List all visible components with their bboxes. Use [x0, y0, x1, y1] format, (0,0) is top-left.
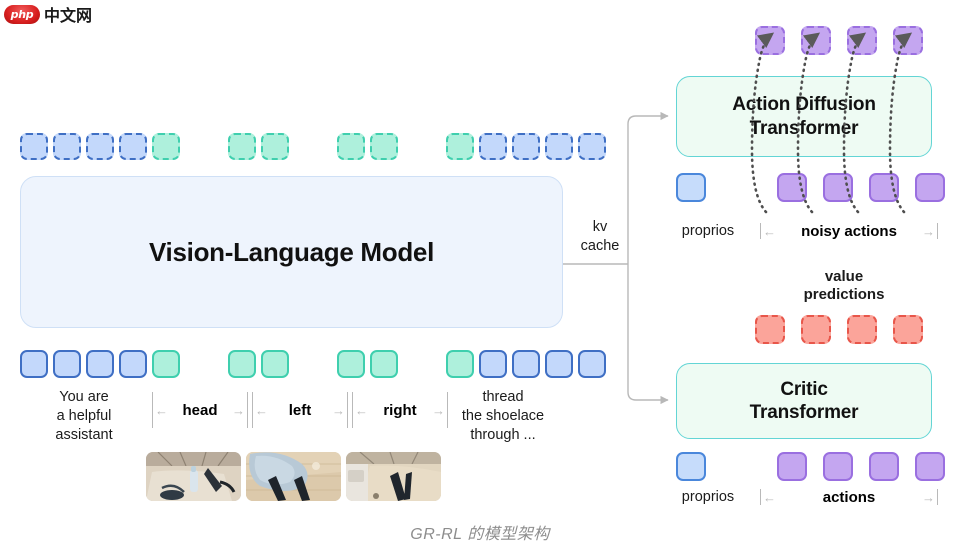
vlm-title: Vision-Language Model	[149, 237, 434, 268]
purple-token	[915, 173, 945, 202]
red-token	[801, 315, 831, 344]
critic-actions-bracket: ← actions →	[760, 488, 938, 506]
bracket-bar-left	[352, 392, 353, 428]
right-camera-image	[346, 452, 441, 501]
right-bracket: ← right →	[352, 400, 448, 420]
bracket-bar-right	[937, 489, 938, 505]
purple-token	[893, 26, 923, 55]
blue-token	[479, 350, 507, 378]
arrow-right-icon: →	[922, 225, 935, 238]
green-token	[261, 350, 289, 378]
green-token	[228, 350, 256, 378]
kv-cache-label: kvcache	[572, 218, 628, 256]
right-camera-view[interactable]	[346, 452, 441, 501]
arrow-right-icon: →	[332, 404, 345, 417]
critic-title-line1: Critic	[780, 379, 827, 400]
head-camera-view[interactable]	[146, 452, 241, 501]
right-label: right	[368, 402, 432, 419]
arrow-left-icon: ←	[255, 404, 268, 417]
critic-transformer-box[interactable]: Critic Transformer	[676, 363, 932, 439]
bracket-bar-left	[152, 392, 153, 428]
head-label: head	[168, 402, 232, 419]
green-token	[370, 133, 398, 160]
green-token	[446, 133, 474, 160]
action-diffusion-transformer-title: Action Diffusion Transformer	[732, 93, 876, 139]
purple-token	[823, 452, 853, 481]
token-group-prompt-tokens	[20, 350, 180, 378]
left-bracket: ← left →	[252, 400, 348, 420]
lbl-system-prompt-line3: assistant	[55, 427, 112, 443]
watermark-text: 中文网	[44, 2, 92, 26]
proprios-token	[676, 173, 706, 202]
php-logo-icon: php	[4, 5, 40, 24]
arrow-left-icon: ←	[155, 404, 168, 417]
blue-token	[53, 133, 81, 160]
arrow-left-icon: ←	[763, 225, 776, 238]
token-group-prompt-tokens	[20, 133, 180, 160]
purple-token	[777, 452, 807, 481]
purple-token	[869, 452, 899, 481]
adt-title-line1: Action Diffusion	[732, 94, 876, 115]
green-token	[152, 350, 180, 378]
action-diffusion-transformer-box[interactable]: Action Diffusion Transformer	[676, 76, 932, 157]
vision-language-model-box[interactable]: Vision-Language Model	[20, 176, 563, 328]
figure-caption: GR-RL 的模型架构	[0, 520, 960, 544]
vlm-output-token-row	[20, 133, 606, 160]
system-prompt-label: You area helpfulassistant	[24, 388, 144, 445]
action-diffusion-input-token-row	[676, 173, 945, 202]
green-token	[337, 133, 365, 160]
blue-token	[53, 350, 81, 378]
lbl-system-prompt-line1: You are	[59, 389, 108, 405]
bracket-bar-left	[252, 392, 253, 428]
denoised-action-token-row	[755, 26, 923, 55]
site-watermark: php 中文网	[4, 2, 92, 26]
red-token	[755, 315, 785, 344]
blue-token	[578, 133, 606, 160]
blue-token	[119, 350, 147, 378]
token-group-head-tokens	[228, 133, 289, 160]
left-camera-view[interactable]	[246, 452, 341, 501]
noisy-actions-bracket: ← noisy actions →	[760, 222, 938, 240]
blue-token	[512, 350, 540, 378]
green-token	[228, 133, 256, 160]
green-token	[261, 133, 289, 160]
bracket-bar-left	[760, 489, 761, 505]
purple-token	[755, 26, 785, 55]
red-token	[847, 315, 877, 344]
value-prediction-token-row	[755, 315, 923, 344]
purple-token	[869, 173, 899, 202]
token-group-head-tokens	[228, 350, 289, 378]
blue-token	[578, 350, 606, 378]
blue-token	[512, 133, 540, 160]
noisy-actions-label: noisy actions	[776, 223, 922, 240]
value-pred-line2: predictions	[804, 286, 885, 303]
critic-transformer-title: Critic Transformer	[750, 378, 859, 424]
critic-input-token-row	[676, 452, 945, 481]
purple-token	[823, 173, 853, 202]
lbl-instruction-line2: the shoelace	[462, 408, 544, 424]
blue-token	[119, 133, 147, 160]
purple-token	[915, 452, 945, 481]
bracket-bar-left	[760, 223, 761, 239]
kv-cache-line2: cache	[581, 238, 620, 254]
arrow-right-icon: →	[922, 491, 935, 504]
arrow-left-icon: ←	[355, 404, 368, 417]
head-camera-image	[146, 452, 241, 501]
bracket-bar-right	[247, 392, 248, 428]
arrow-left-icon: ←	[763, 491, 776, 504]
blue-token	[20, 133, 48, 160]
diagram-canvas: php 中文网 Vision-Language Model You area h…	[0, 0, 960, 552]
green-token	[337, 350, 365, 378]
token-group-right-instruction-tokens	[446, 350, 606, 378]
purple-token	[801, 26, 831, 55]
left-label: left	[268, 402, 332, 419]
purple-token	[847, 26, 877, 55]
camera-thumbnails	[146, 452, 441, 501]
value-pred-line1: value	[825, 268, 863, 285]
proprios-token	[676, 452, 706, 481]
green-token	[152, 133, 180, 160]
red-token	[893, 315, 923, 344]
token-group-right-instruction-tokens	[446, 133, 606, 160]
token-group-left-tokens	[337, 133, 398, 160]
critic-actions-label: actions	[776, 489, 922, 506]
critic-proprios-label: proprios	[668, 488, 748, 507]
bracket-bar-right	[347, 392, 348, 428]
adt-title-line2: Transformer	[750, 118, 859, 139]
purple-token	[777, 173, 807, 202]
lbl-system-prompt-line2: a helpful	[57, 408, 112, 424]
bracket-bar-right	[937, 223, 938, 239]
instruction-label: threadthe shoelacethrough ...	[437, 388, 569, 445]
blue-token	[479, 133, 507, 160]
blue-token	[545, 133, 573, 160]
adt-proprios-label: proprios	[668, 222, 748, 241]
blue-token	[86, 350, 114, 378]
blue-token	[20, 350, 48, 378]
blue-token	[86, 133, 114, 160]
lbl-instruction-line3: through ...	[470, 427, 535, 443]
left-camera-image	[246, 452, 341, 501]
green-token	[446, 350, 474, 378]
kv-cache-line1: kv	[593, 219, 608, 235]
head-bracket: ← head →	[152, 400, 248, 420]
green-token	[370, 350, 398, 378]
critic-title-line2: Transformer	[750, 402, 859, 423]
value-predictions-label: value predictions	[780, 268, 908, 305]
blue-token	[545, 350, 573, 378]
token-group-left-tokens	[337, 350, 398, 378]
lbl-instruction-line1: thread	[482, 389, 523, 405]
arrow-right-icon: →	[232, 404, 245, 417]
vlm-input-token-row	[20, 350, 606, 378]
